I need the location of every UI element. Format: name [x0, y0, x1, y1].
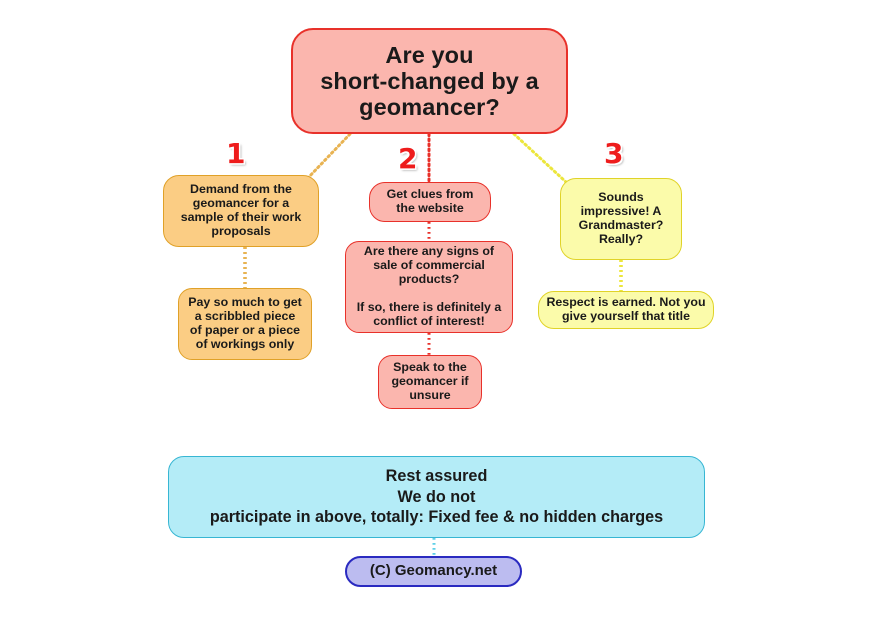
copyright-node: (C) Geomancy.net: [345, 556, 522, 587]
assurance-node: Rest assured We do not participate in ab…: [168, 456, 705, 538]
branch-3-child-1-node: Respect is earned. Not you give yourself…: [538, 291, 714, 329]
step-number-2: 2: [398, 145, 417, 173]
diagram-canvas: Are you short-changed by a geomancer? 1 …: [0, 0, 877, 620]
step-number-3: 3: [604, 140, 623, 168]
connector-title-to-branch1: [306, 134, 350, 180]
branch-1-child-1-node: Pay so much to get a scribbled piece of …: [178, 288, 312, 360]
branch-2-child-1-node: Are there any signs of sale of commercia…: [345, 241, 513, 333]
branch-2-head-node: Get clues from the website: [369, 182, 491, 222]
step-number-1: 1: [226, 140, 245, 168]
branch-1-head-node: Demand from the geomancer for a sample o…: [163, 175, 319, 247]
branch-2-child-2-node: Speak to the geomancer if unsure: [378, 355, 482, 409]
main-question-node: Are you short-changed by a geomancer?: [291, 28, 568, 134]
connector-title-to-branch3: [514, 134, 566, 182]
branch-3-head-node: Sounds impressive! A Grandmaster? Really…: [560, 178, 682, 260]
